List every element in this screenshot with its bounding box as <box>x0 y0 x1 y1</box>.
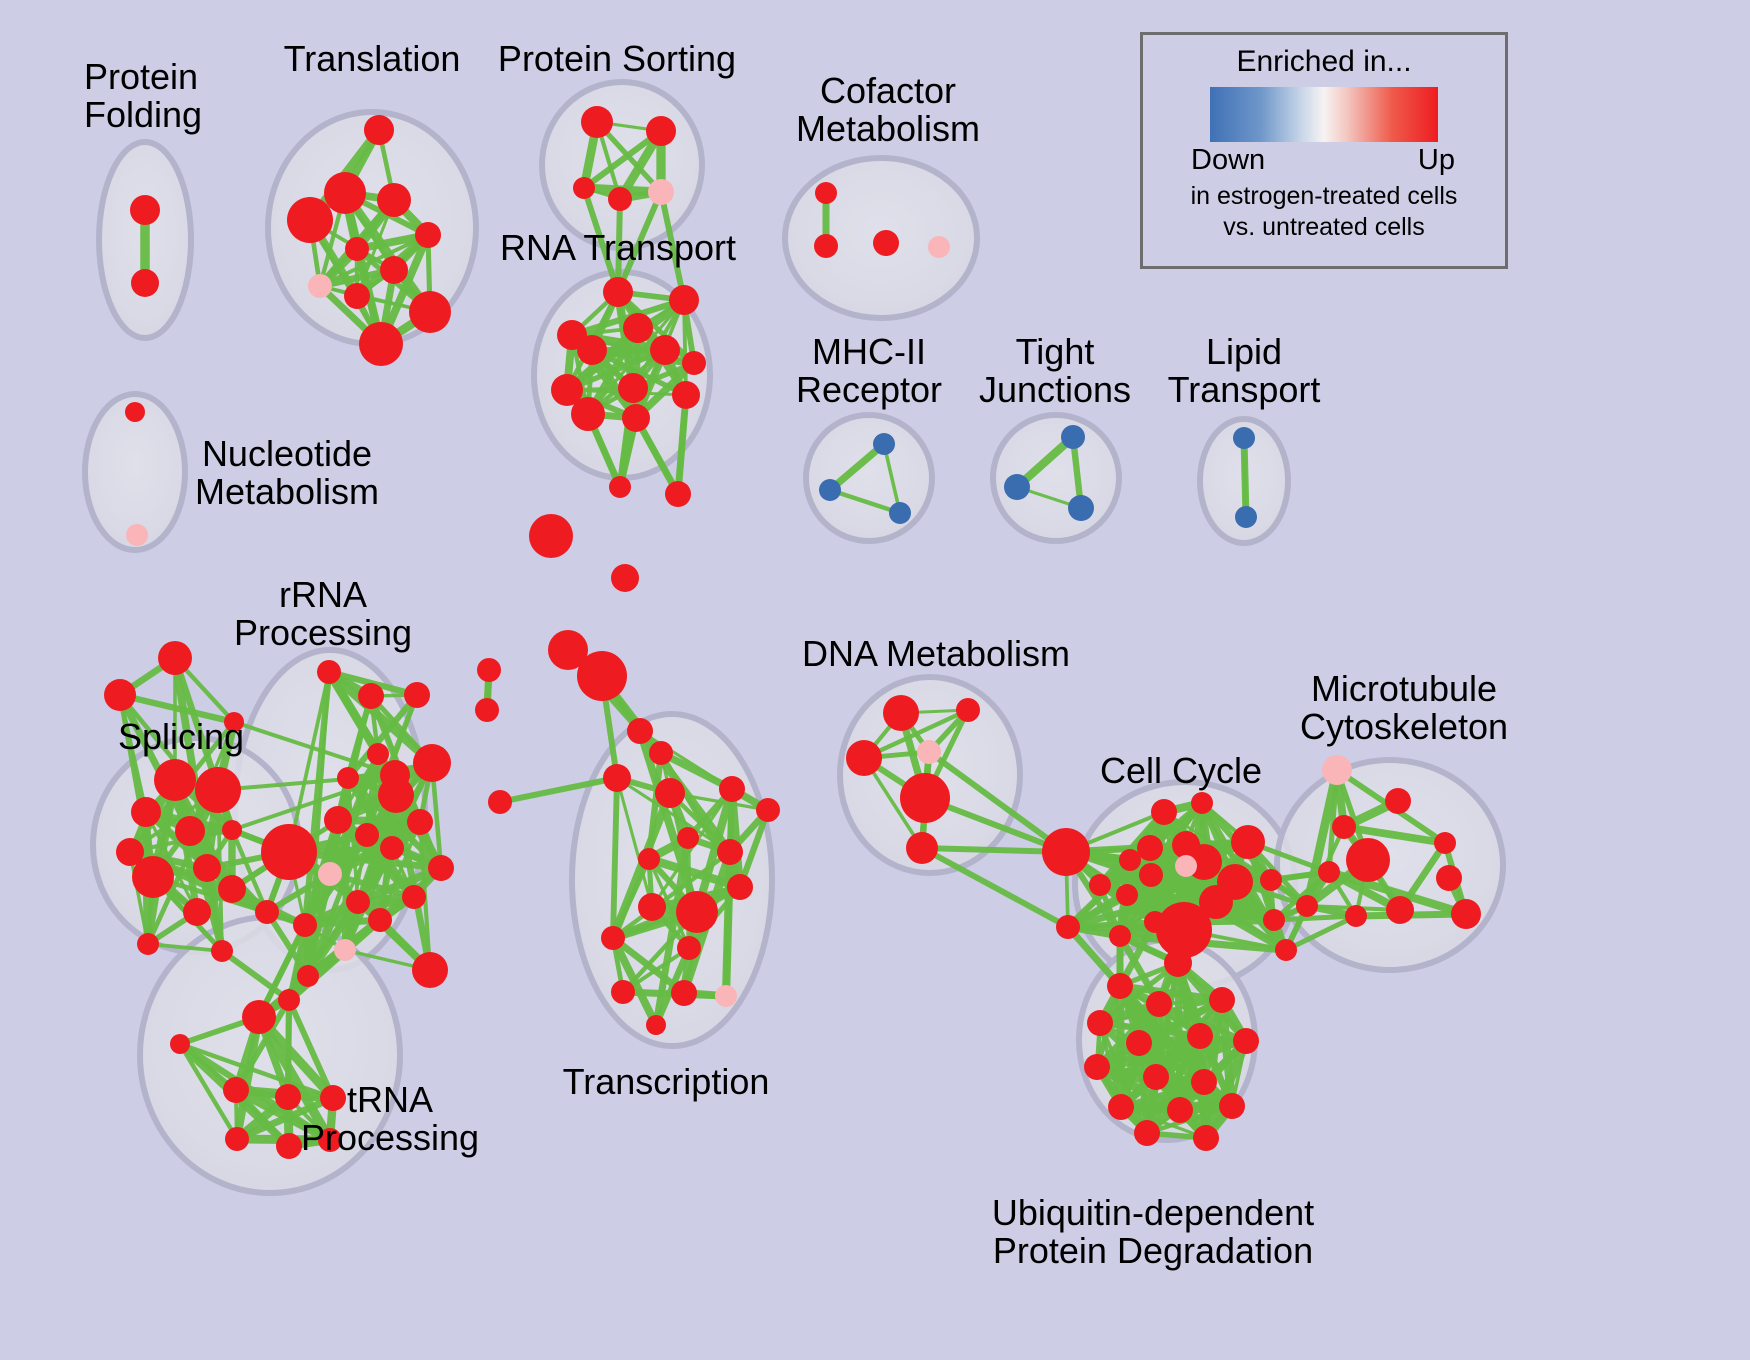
cluster-ellipse-mhc-ii-receptor <box>806 415 932 541</box>
network-node[interactable] <box>1134 1120 1160 1146</box>
network-node[interactable] <box>346 890 370 914</box>
network-node[interactable] <box>611 564 639 592</box>
network-node[interactable] <box>577 651 627 701</box>
network-node[interactable] <box>1209 987 1235 1013</box>
network-node[interactable] <box>412 952 448 988</box>
network-node[interactable] <box>889 502 911 524</box>
network-edge <box>1244 438 1246 517</box>
legend-down-label: Down <box>1191 144 1265 177</box>
network-node[interactable] <box>609 476 631 498</box>
network-node[interactable] <box>900 773 950 823</box>
figure-canvas: Protein FoldingTranslationProtein Sortin… <box>0 0 1750 1360</box>
cluster-label-microtubule-cytoskeleton: Microtubule Cytoskeleton <box>1300 670 1508 746</box>
network-node[interactable] <box>1109 925 1131 947</box>
network-node[interactable] <box>928 236 950 258</box>
legend-caption-line2: vs. untreated cells <box>1143 213 1505 242</box>
network-node[interactable] <box>1107 973 1133 999</box>
network-node[interactable] <box>1187 1023 1213 1049</box>
cluster-label-rrna-processing: rRNA Processing <box>234 576 412 652</box>
network-node[interactable] <box>158 641 192 675</box>
network-node[interactable] <box>1296 895 1318 917</box>
network-node[interactable] <box>883 695 919 731</box>
network-node[interactable] <box>1434 832 1456 854</box>
network-node[interactable] <box>846 740 882 776</box>
network-node[interactable] <box>358 683 384 709</box>
network-node[interactable] <box>1346 838 1390 882</box>
network-edge <box>613 778 617 938</box>
network-node[interactable] <box>276 1133 302 1159</box>
network-node[interactable] <box>649 741 673 765</box>
network-node[interactable] <box>170 1034 190 1054</box>
cluster-label-splicing: Splicing <box>118 718 244 756</box>
network-node[interactable] <box>1191 792 1213 814</box>
cluster-label-dna-metabolism: DNA Metabolism <box>802 635 1070 673</box>
network-node[interactable] <box>225 1127 249 1151</box>
network-node[interactable] <box>104 679 136 711</box>
network-node[interactable] <box>255 900 279 924</box>
network-node[interactable] <box>154 759 196 801</box>
cluster-label-trna-processing: tRNA Processing <box>301 1081 479 1157</box>
network-node[interactable] <box>1126 1030 1152 1056</box>
network-node[interactable] <box>175 816 205 846</box>
network-node[interactable] <box>638 893 666 921</box>
network-node[interactable] <box>1451 899 1481 929</box>
network-node[interactable] <box>1151 799 1177 825</box>
network-node[interactable] <box>1233 427 1255 449</box>
network-node[interactable] <box>873 433 895 455</box>
network-node[interactable] <box>1167 1097 1193 1123</box>
network-node[interactable] <box>131 797 161 827</box>
network-node[interactable] <box>402 885 426 909</box>
network-node[interactable] <box>1436 865 1462 891</box>
network-node[interactable] <box>1322 755 1352 785</box>
network-node[interactable] <box>655 778 685 808</box>
network-node[interactable] <box>756 798 780 822</box>
network-node[interactable] <box>125 402 145 422</box>
network-node[interactable] <box>415 222 441 248</box>
network-node[interactable] <box>368 908 392 932</box>
network-node[interactable] <box>715 985 737 1007</box>
network-node[interactable] <box>1386 896 1414 924</box>
network-node[interactable] <box>819 479 841 501</box>
network-node[interactable] <box>275 1084 301 1110</box>
network-node[interactable] <box>623 313 653 343</box>
network-node[interactable] <box>218 875 246 903</box>
network-node[interactable] <box>603 277 633 307</box>
network-node[interactable] <box>132 856 174 898</box>
network-node[interactable] <box>1143 1064 1169 1090</box>
network-node[interactable] <box>1137 835 1163 861</box>
network-node[interactable] <box>344 283 370 309</box>
network-node[interactable] <box>223 1077 249 1103</box>
network-node[interactable] <box>211 940 233 962</box>
network-node[interactable] <box>1345 905 1367 927</box>
network-node[interactable] <box>404 682 430 708</box>
network-node[interactable] <box>603 764 631 792</box>
network-node[interactable] <box>618 373 648 403</box>
network-node[interactable] <box>137 933 159 955</box>
network-node[interactable] <box>317 660 341 684</box>
cluster-label-mhc-ii-receptor: MHC-II Receptor <box>796 333 942 409</box>
network-node[interactable] <box>409 291 451 333</box>
network-edge <box>288 1000 289 1097</box>
network-node[interactable] <box>293 913 317 937</box>
network-node[interactable] <box>601 926 625 950</box>
cluster-label-cofactor-metabolism: Cofactor Metabolism <box>796 72 980 148</box>
network-node[interactable] <box>917 740 941 764</box>
network-node[interactable] <box>1061 425 1085 449</box>
network-node[interactable] <box>1042 828 1090 876</box>
cluster-label-nucleotide-metabolism: Nucleotide Metabolism <box>195 435 379 511</box>
network-node[interactable] <box>1193 1125 1219 1151</box>
network-node[interactable] <box>682 351 706 375</box>
network-node[interactable] <box>377 183 411 217</box>
network-node[interactable] <box>719 776 745 802</box>
network-node[interactable] <box>873 230 899 256</box>
network-node[interactable] <box>1139 863 1163 887</box>
network-node[interactable] <box>571 397 605 431</box>
network-node[interactable] <box>1068 495 1094 521</box>
network-node[interactable] <box>956 698 980 722</box>
network-node[interactable] <box>334 939 356 961</box>
cluster-label-ubiquitin-degradation: Ubiquitin-dependent Protein Degradation <box>992 1194 1314 1270</box>
cluster-label-transcription: Transcription <box>563 1063 770 1101</box>
network-node[interactable] <box>475 698 499 722</box>
network-node[interactable] <box>1219 1093 1245 1119</box>
network-node[interactable] <box>677 936 701 960</box>
network-node[interactable] <box>638 848 660 870</box>
network-node[interactable] <box>676 891 718 933</box>
network-node[interactable] <box>324 806 352 834</box>
network-node[interactable] <box>367 743 389 765</box>
network-node[interactable] <box>1087 1010 1113 1036</box>
network-node[interactable] <box>1116 884 1138 906</box>
network-node[interactable] <box>672 381 700 409</box>
network-node[interactable] <box>131 269 159 297</box>
network-node[interactable] <box>727 874 753 900</box>
legend-up-label: Up <box>1418 144 1455 177</box>
cluster-label-lipid-transport: Lipid Transport <box>1168 333 1321 409</box>
network-node[interactable] <box>648 179 674 205</box>
network-node[interactable] <box>287 197 333 243</box>
network-node[interactable] <box>611 980 635 1004</box>
network-node[interactable] <box>1164 949 1192 977</box>
network-node[interactable] <box>380 836 404 860</box>
legend-color-gradient-bar <box>1210 87 1438 142</box>
network-node[interactable] <box>1156 902 1212 958</box>
network-node[interactable] <box>428 855 454 881</box>
network-node[interactable] <box>318 862 342 886</box>
network-node[interactable] <box>1275 939 1297 961</box>
network-node[interactable] <box>130 195 160 225</box>
network-node[interactable] <box>1263 909 1285 931</box>
network-node[interactable] <box>1089 874 1111 896</box>
network-node[interactable] <box>1231 825 1265 859</box>
network-node[interactable] <box>815 182 837 204</box>
network-node[interactable] <box>1056 915 1080 939</box>
network-node[interactable] <box>278 989 300 1011</box>
network-node[interactable] <box>627 718 653 744</box>
network-node[interactable] <box>345 237 369 261</box>
network-node[interactable] <box>814 234 838 258</box>
network-node[interactable] <box>477 658 501 682</box>
cluster-label-rna-transport: RNA Transport <box>500 229 736 267</box>
network-node[interactable] <box>1119 849 1141 871</box>
cluster-label-tight-junctions: Tight Junctions <box>979 333 1131 409</box>
network-node[interactable] <box>665 481 691 507</box>
network-node[interactable] <box>488 790 512 814</box>
network-node[interactable] <box>573 177 595 199</box>
legend-caption-line1: in estrogen-treated cells <box>1143 182 1505 211</box>
legend-panel: Enriched in... Down Up in estrogen-treat… <box>1140 32 1508 269</box>
cluster-label-cell-cycle: Cell Cycle <box>1100 752 1262 790</box>
network-node[interactable] <box>364 115 394 145</box>
network-node[interactable] <box>324 172 366 214</box>
network-node[interactable] <box>261 824 317 880</box>
network-node[interactable] <box>1385 788 1411 814</box>
network-node[interactable] <box>646 1015 666 1035</box>
network-node[interactable] <box>355 823 379 847</box>
network-node[interactable] <box>378 777 414 813</box>
network-node[interactable] <box>622 404 650 432</box>
network-node[interactable] <box>380 256 408 284</box>
network-node[interactable] <box>1332 815 1356 839</box>
network-node[interactable] <box>669 285 699 315</box>
network-node[interactable] <box>529 514 573 558</box>
network-node[interactable] <box>297 965 319 987</box>
network-node[interactable] <box>577 335 607 365</box>
network-node[interactable] <box>1191 1069 1217 1095</box>
network-node[interactable] <box>1084 1054 1110 1080</box>
network-node[interactable] <box>222 820 242 840</box>
network-edge <box>726 852 730 996</box>
network-node[interactable] <box>1108 1094 1134 1120</box>
legend-title: Enriched in... <box>1143 45 1505 79</box>
network-node[interactable] <box>1175 855 1197 877</box>
network-node[interactable] <box>193 854 221 882</box>
network-node[interactable] <box>242 1000 276 1034</box>
network-node[interactable] <box>1235 506 1257 528</box>
network-node[interactable] <box>650 335 680 365</box>
legend-endpoints: Down Up <box>1151 144 1497 180</box>
network-node[interactable] <box>1318 861 1340 883</box>
network-node[interactable] <box>906 832 938 864</box>
network-node[interactable] <box>1146 991 1172 1017</box>
network-node[interactable] <box>646 116 676 146</box>
network-node[interactable] <box>1233 1028 1259 1054</box>
network-node[interactable] <box>671 980 697 1006</box>
network-node[interactable] <box>308 274 332 298</box>
cluster-label-protein-folding: Protein Folding <box>84 58 202 134</box>
network-node[interactable] <box>608 187 632 211</box>
network-node[interactable] <box>677 827 699 849</box>
network-node[interactable] <box>407 809 433 835</box>
network-node[interactable] <box>359 322 403 366</box>
network-node[interactable] <box>717 839 743 865</box>
network-node[interactable] <box>195 767 241 813</box>
network-node[interactable] <box>413 744 451 782</box>
network-node[interactable] <box>126 524 148 546</box>
network-node[interactable] <box>581 106 613 138</box>
network-node[interactable] <box>1004 474 1030 500</box>
cluster-label-translation: Translation <box>284 40 461 78</box>
network-node[interactable] <box>1260 869 1282 891</box>
cluster-label-protein-sorting: Protein Sorting <box>498 40 736 78</box>
network-node[interactable] <box>183 898 211 926</box>
network-node[interactable] <box>337 767 359 789</box>
